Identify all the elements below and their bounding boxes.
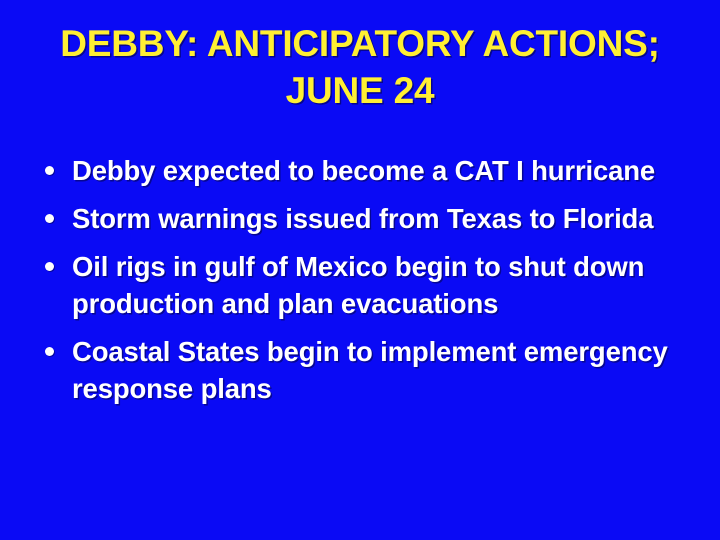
list-item: Storm warnings issued from Texas to Flor… (38, 200, 688, 237)
slide-bullet-list: Debby expected to become a CAT I hurrica… (38, 152, 688, 418)
presentation-slide: DEBBY: ANTICIPATORY ACTIONS; JUNE 24 Deb… (0, 0, 720, 540)
bullet-text: Debby expected to become a CAT I hurrica… (72, 152, 688, 189)
list-item: Coastal States begin to implement emerge… (38, 333, 688, 407)
round-bullet-icon (45, 262, 54, 271)
round-bullet-icon (45, 347, 54, 356)
round-bullet-icon (45, 166, 54, 175)
bullet-text: Oil rigs in gulf of Mexico begin to shut… (72, 248, 688, 322)
bullet-text: Coastal States begin to implement emerge… (72, 333, 688, 407)
slide-title: DEBBY: ANTICIPATORY ACTIONS; JUNE 24 (36, 20, 684, 114)
bullet-text: Storm warnings issued from Texas to Flor… (72, 200, 688, 237)
round-bullet-icon (45, 214, 54, 223)
list-item: Debby expected to become a CAT I hurrica… (38, 152, 688, 189)
list-item: Oil rigs in gulf of Mexico begin to shut… (38, 248, 688, 322)
